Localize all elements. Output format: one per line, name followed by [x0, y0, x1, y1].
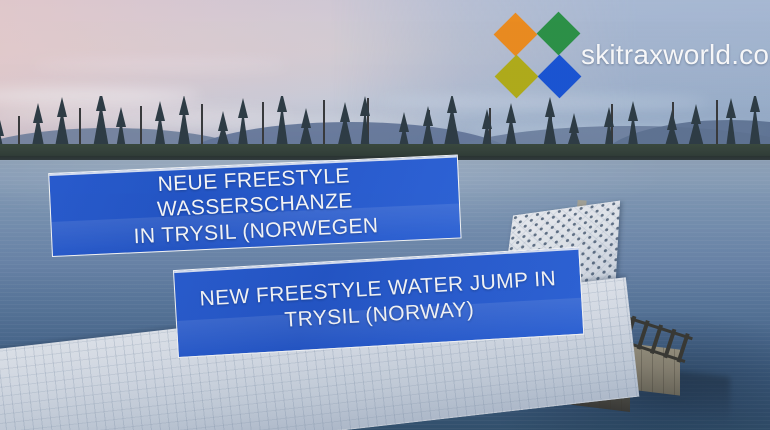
diamond-olive-icon — [495, 55, 539, 99]
skitrax-four-diamonds-logo[interactable] — [498, 16, 578, 96]
conifer-tree — [543, 109, 557, 149]
banner-german-line1: NEUE FREESTYLE WASSERSCHANZE — [157, 164, 354, 221]
conifer-tree — [688, 116, 704, 147]
conifer-tree — [276, 104, 288, 147]
utility-pole — [323, 100, 325, 149]
site-name-watermark[interactable]: skitraxworld.com — [581, 39, 770, 71]
railing-post — [663, 329, 676, 359]
diamond-blue-icon — [538, 55, 582, 99]
conifer-tree — [55, 109, 69, 147]
diamond-orange-icon — [494, 13, 538, 57]
banner-english-text: NEW FREESTYLE WATER JUMP IN TRYSIL (NORW… — [189, 266, 568, 339]
utility-pole — [716, 100, 718, 150]
conifer-tree — [749, 104, 761, 149]
utility-pole — [140, 106, 142, 146]
conifer-tree — [93, 103, 109, 148]
railing-post — [637, 320, 650, 350]
utility-pole — [79, 108, 81, 145]
diamond-green-icon — [537, 12, 581, 56]
conifer-tree — [665, 122, 679, 146]
conifer-tree — [444, 105, 460, 146]
utility-pole — [201, 104, 203, 147]
promo-image-canvas: skitraxworld.com NEUE FREESTYLE WASSERSC… — [0, 0, 770, 430]
conifer-tree — [726, 110, 736, 148]
railing-post — [650, 324, 663, 354]
conifer-tree — [238, 110, 248, 146]
conifer-tree — [32, 115, 44, 146]
utility-pole — [262, 102, 264, 148]
